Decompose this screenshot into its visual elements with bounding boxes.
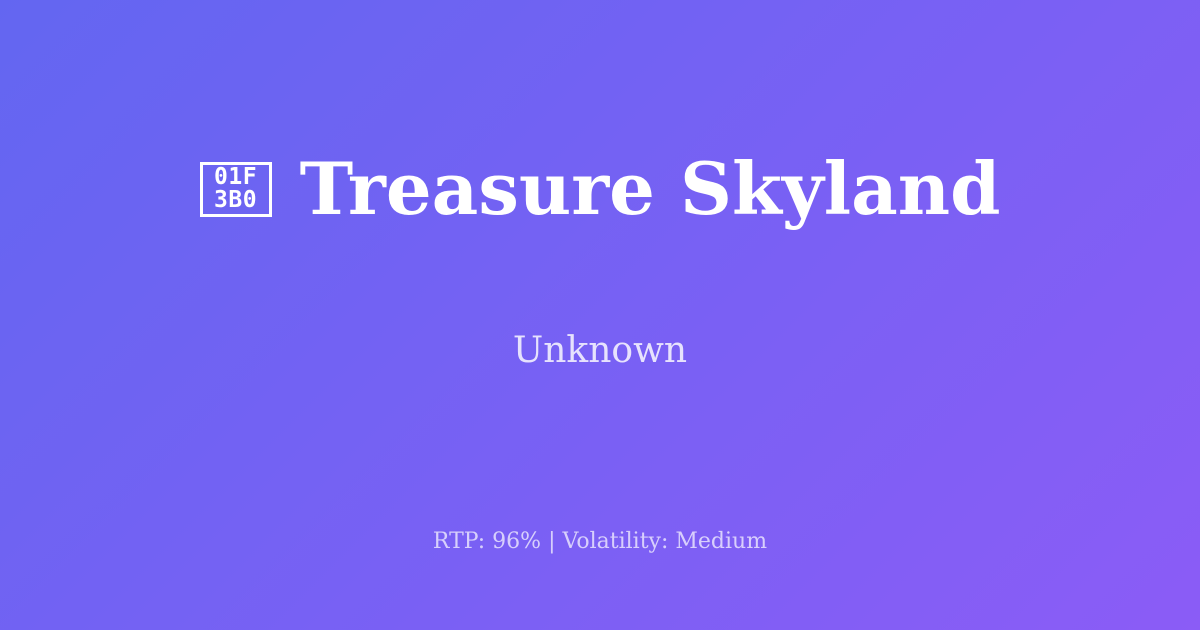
hexbox-codepoint-lower: 3B0 [214, 189, 257, 212]
hexbox-codepoint-upper: 01F [214, 166, 257, 189]
card-center-content: 01F 3B0 Treasure Skyland Unknown [0, 0, 1200, 474]
slot-machine-icon: 01F 3B0 [200, 162, 272, 217]
game-preview-card: 01F 3B0 Treasure Skyland Unknown RTP: 96… [0, 0, 1200, 630]
title-row: 01F 3B0 Treasure Skyland [200, 103, 1001, 275]
game-provider-subtitle: Unknown [513, 331, 687, 371]
page-title: Treasure Skyland [300, 151, 1001, 227]
game-meta-line: RTP: 96% | Volatility: Medium [0, 528, 1200, 556]
